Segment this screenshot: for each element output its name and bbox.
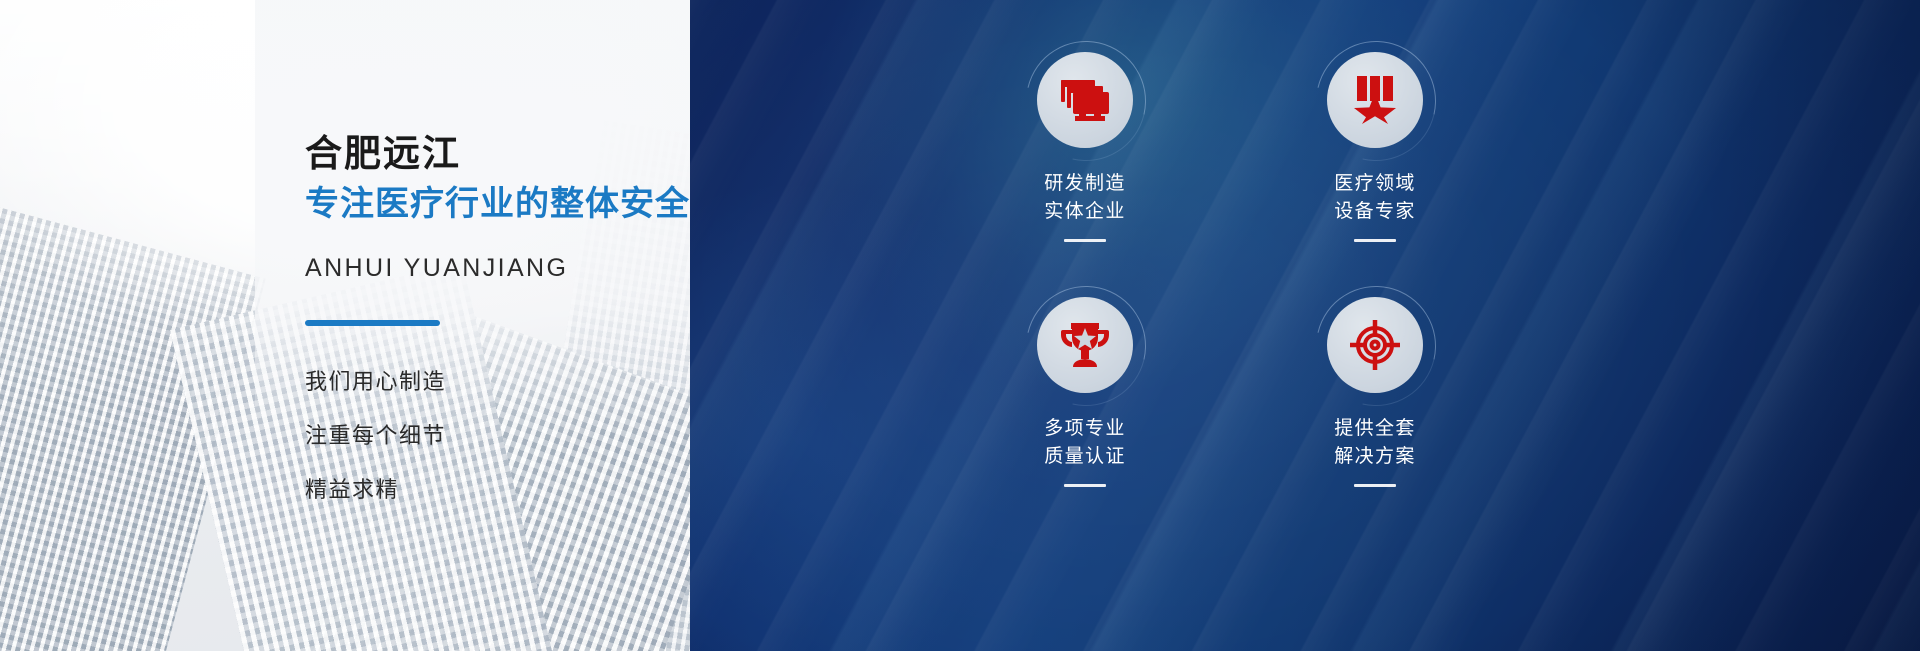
feature-label: 医疗领域 设备专家	[1334, 170, 1416, 225]
target-icon	[1349, 319, 1401, 371]
feature-item-quality-certification[interactable]: 多项专业 质量认证	[940, 297, 1230, 542]
badge-circle	[1037, 297, 1133, 393]
feature-label: 研发制造 实体企业	[1044, 170, 1126, 225]
feature-label: 提供全套 解决方案	[1334, 415, 1416, 470]
badge-circle	[1327, 297, 1423, 393]
feature-badge	[1037, 297, 1133, 393]
feature-underline	[1064, 484, 1106, 487]
feature-underline	[1354, 484, 1396, 487]
factory-icon	[1059, 78, 1111, 122]
slogan-line: 注重每个细节	[305, 425, 685, 447]
page-title: 合肥远江	[305, 132, 685, 176]
feature-badge	[1037, 52, 1133, 148]
promo-banner: 合肥远江 专注医疗行业的整体安全 ANHUI YUANJIANG 我们用心制造 …	[0, 0, 1920, 651]
feature-underline	[1354, 239, 1396, 242]
trophy-icon	[1059, 321, 1111, 369]
feature-grid: 研发制造 实体企业	[940, 52, 1520, 542]
feature-label-line2: 实体企业	[1044, 198, 1126, 226]
feature-badge	[1327, 297, 1423, 393]
feature-badge	[1327, 52, 1423, 148]
accent-divider	[305, 320, 440, 326]
slogan-list: 我们用心制造 注重每个细节 精益求精	[305, 371, 685, 501]
feature-underline	[1064, 239, 1106, 242]
page-tagline: 专注医疗行业的整体安全	[305, 184, 685, 225]
feature-label: 多项专业 质量认证	[1044, 415, 1126, 470]
feature-label-line1: 医疗领域	[1334, 170, 1416, 198]
slogan-line: 精益求精	[305, 479, 685, 501]
feature-label-line2: 解决方案	[1334, 443, 1416, 471]
feature-label-line2: 设备专家	[1334, 198, 1416, 226]
right-feature-panel: 研发制造 实体企业	[690, 0, 1920, 651]
feature-item-medical-field[interactable]: 医疗领域 设备专家	[1230, 52, 1520, 297]
slogan-line: 我们用心制造	[305, 371, 685, 393]
feature-label-line2: 质量认证	[1044, 443, 1126, 471]
badge-circle	[1327, 52, 1423, 148]
feature-label-line1: 多项专业	[1044, 415, 1126, 443]
feature-label-line1: 提供全套	[1334, 415, 1416, 443]
feature-item-rd-manufacturing[interactable]: 研发制造 实体企业	[940, 52, 1230, 297]
feature-item-full-solution[interactable]: 提供全套 解决方案	[1230, 297, 1520, 542]
hero-text-block: 合肥远江 专注医疗行业的整体安全 ANHUI YUANJIANG 我们用心制造 …	[305, 132, 685, 501]
badge-circle	[1037, 52, 1133, 148]
company-name-english: ANHUI YUANJIANG	[305, 254, 685, 283]
left-hero-panel: 合肥远江 专注医疗行业的整体安全 ANHUI YUANJIANG 我们用心制造 …	[0, 0, 690, 651]
medal-icon	[1352, 75, 1398, 125]
feature-label-line1: 研发制造	[1044, 170, 1126, 198]
